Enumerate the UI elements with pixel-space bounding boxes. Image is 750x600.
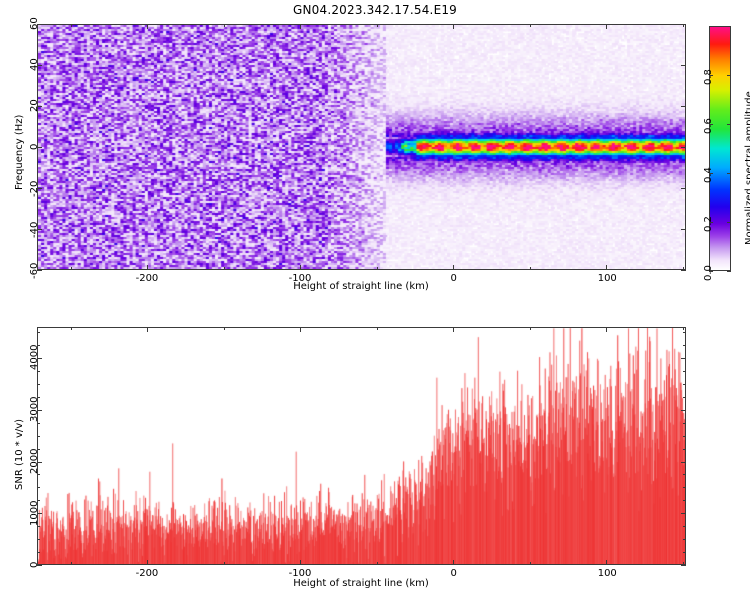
spectrogram-image — [38, 25, 685, 269]
colorbar — [709, 26, 731, 271]
tick-mark — [37, 397, 40, 398]
tick-mark — [683, 65, 686, 66]
tick-mark — [37, 552, 40, 553]
tick-mark — [37, 345, 40, 346]
figure-title: GN04.2023.342.17.54.E19 — [0, 3, 750, 17]
spectrogram-x-tick-label: 100 — [598, 273, 617, 284]
spectrogram-x-tick-label: -200 — [136, 273, 159, 284]
tick-mark — [453, 24, 454, 29]
colorbar-label: Normalized spectral amplitude — [744, 91, 750, 245]
tick-mark — [683, 449, 686, 450]
tick-mark — [37, 65, 40, 66]
tick-mark — [37, 500, 40, 501]
spectrogram-y-tick-label: -40 — [29, 222, 40, 238]
tick-mark — [681, 513, 686, 514]
tick-mark — [727, 75, 731, 76]
spectrogram-y-tick-label: -20 — [29, 181, 40, 197]
tick-mark — [681, 565, 686, 566]
tick-mark — [606, 265, 607, 270]
tick-mark — [683, 345, 686, 346]
tick-mark — [37, 423, 40, 424]
colorbar-tick-label: 0.2 — [703, 216, 714, 232]
tick-mark — [37, 229, 40, 230]
snr-x-tick-label: 100 — [598, 568, 617, 579]
tick-mark — [606, 24, 607, 29]
tick-mark — [727, 173, 731, 174]
tick-mark — [606, 327, 607, 332]
tick-mark — [681, 410, 686, 411]
tick-mark — [377, 327, 378, 330]
tick-mark — [683, 229, 686, 230]
tick-mark — [37, 474, 40, 475]
tick-mark — [71, 267, 72, 270]
tick-mark — [300, 327, 301, 332]
tick-mark — [683, 188, 686, 189]
tick-mark — [530, 562, 531, 565]
snr-y-tick-label: 3000 — [29, 397, 40, 422]
tick-mark — [147, 24, 148, 29]
tick-mark — [37, 147, 40, 148]
tick-mark — [37, 487, 40, 488]
tick-mark — [147, 327, 148, 332]
tick-mark — [37, 332, 40, 333]
spectrogram-panel — [37, 24, 686, 270]
snr-y-tick-label: 1000 — [29, 500, 40, 525]
snr-y-tick-label: 0 — [29, 562, 40, 568]
tick-mark — [727, 271, 731, 272]
tick-mark — [683, 539, 686, 540]
tick-mark — [606, 560, 607, 565]
colorbar-tick-label: 0.0 — [703, 265, 714, 281]
tick-mark — [530, 24, 531, 27]
tick-mark — [683, 147, 686, 148]
tick-mark — [530, 327, 531, 330]
tick-mark — [224, 327, 225, 330]
tick-mark — [683, 500, 686, 501]
tick-mark — [681, 462, 686, 463]
colorbar-tick-label: 0.4 — [703, 167, 714, 183]
snr-y-tick-label: 4000 — [29, 345, 40, 370]
tick-mark — [224, 24, 225, 27]
tick-mark — [681, 358, 686, 359]
snr-x-tick-label: -200 — [136, 568, 159, 579]
spectrogram-x-axis-label: Height of straight line (km) — [236, 281, 486, 292]
tick-mark — [224, 562, 225, 565]
tick-mark — [683, 332, 686, 333]
spectrogram-y-tick-label: -60 — [29, 263, 40, 279]
snr-y-tick-label: 2000 — [29, 448, 40, 473]
tick-mark — [683, 106, 686, 107]
tick-mark — [683, 397, 686, 398]
tick-mark — [37, 526, 40, 527]
tick-mark — [683, 526, 686, 527]
spectrogram-y-axis-label: Frequency (Hz) — [14, 115, 25, 190]
tick-mark — [377, 24, 378, 27]
tick-mark — [37, 449, 40, 450]
tick-mark — [71, 24, 72, 27]
tick-mark — [71, 327, 72, 330]
colorbar-tick-label: 0.8 — [703, 69, 714, 85]
tick-mark — [37, 270, 40, 271]
tick-mark — [683, 436, 686, 437]
tick-mark — [683, 423, 686, 424]
tick-mark — [683, 552, 686, 553]
tick-mark — [683, 371, 686, 372]
tick-mark — [683, 384, 686, 385]
tick-mark — [681, 24, 686, 25]
tick-mark — [37, 539, 40, 540]
tick-mark — [37, 436, 40, 437]
tick-mark — [453, 327, 454, 332]
tick-mark — [37, 371, 40, 372]
tick-mark — [453, 265, 454, 270]
tick-mark — [37, 106, 40, 107]
colorbar-tick-label: 0.6 — [703, 118, 714, 134]
tick-mark — [37, 384, 40, 385]
tick-mark — [453, 560, 454, 565]
tick-mark — [377, 267, 378, 270]
tick-mark — [147, 265, 148, 270]
figure-root: GN04.2023.342.17.54.E19 -200-1000100-60-… — [0, 0, 750, 600]
tick-mark — [683, 327, 684, 330]
tick-mark — [727, 222, 731, 223]
tick-mark — [300, 265, 301, 270]
tick-mark — [530, 267, 531, 270]
tick-mark — [683, 474, 686, 475]
tick-mark — [71, 562, 72, 565]
spectrogram-y-tick-label: 60 — [29, 17, 40, 30]
tick-mark — [300, 24, 301, 29]
snr-y-axis-label: SNR (10 * v/v) — [14, 419, 25, 490]
tick-mark — [37, 188, 40, 189]
tick-mark — [147, 560, 148, 565]
snr-x-axis-label: Height of straight line (km) — [236, 578, 486, 589]
tick-mark — [224, 267, 225, 270]
tick-mark — [727, 124, 731, 125]
tick-mark — [683, 487, 686, 488]
snr-panel — [37, 327, 686, 565]
tick-mark — [300, 560, 301, 565]
tick-mark — [377, 562, 378, 565]
snr-trace-plot — [38, 328, 685, 564]
tick-mark — [683, 270, 686, 271]
